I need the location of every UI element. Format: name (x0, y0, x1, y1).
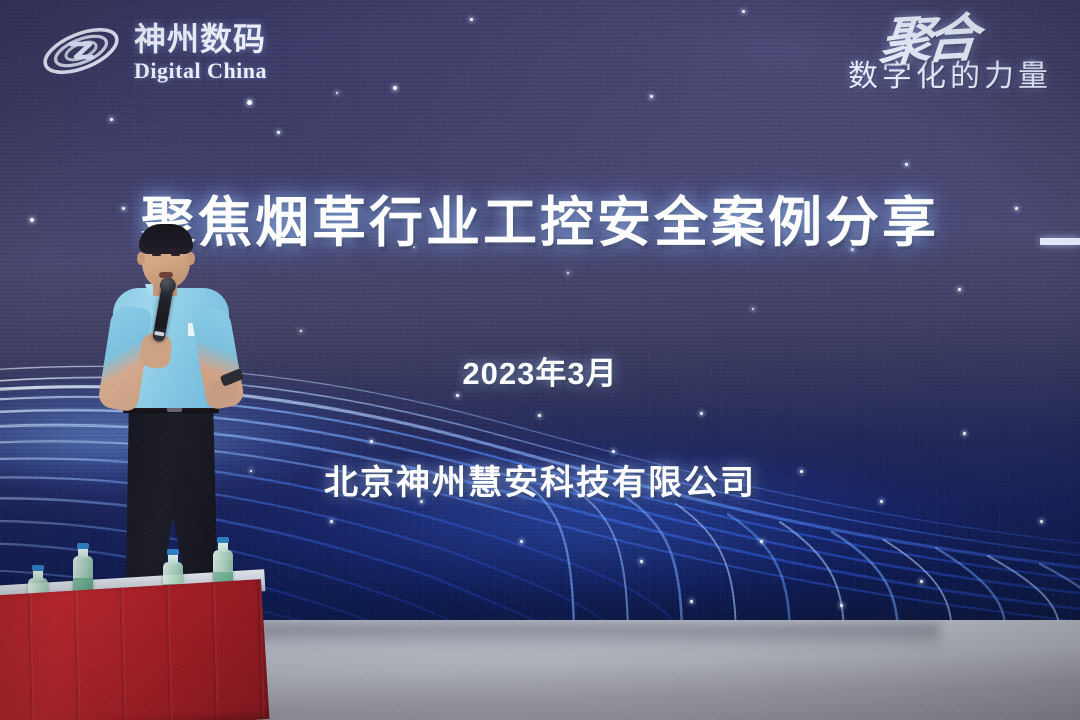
particle-dot (247, 100, 252, 105)
particle-dot (905, 163, 908, 166)
particle-dot (650, 95, 653, 98)
conference-stage-photo: 神州数码 Digital China 聚合 数字化的力量 聚焦烟草行业工控安全案… (0, 0, 1080, 720)
particle-dot (567, 272, 569, 274)
particle-dot (393, 86, 397, 90)
red-table-skirt (0, 579, 269, 720)
presenter-ear-left (137, 252, 145, 265)
logo-text-cn: 神州数码 (134, 23, 267, 55)
particle-dot (470, 18, 473, 21)
presenter-hair (139, 224, 193, 254)
stage-edge-shadow (180, 624, 940, 650)
juhe-calligraphy-logo: 聚合 数字化的力量 (848, 16, 1052, 92)
particle-dot (110, 118, 113, 121)
particle-dot (336, 92, 338, 94)
calligraphy-text: 聚合 (877, 14, 974, 71)
presenter-eye-right (171, 253, 180, 256)
presenter-eye-left (152, 253, 161, 256)
digital-china-logo: 神州数码 Digital China (38, 18, 267, 84)
logo-text-en: Digital China (134, 60, 267, 82)
particle-dot (752, 308, 754, 310)
particle-dot (277, 131, 280, 134)
particle-dot (742, 10, 745, 13)
table-skirt-folds (0, 579, 269, 720)
particle-dot (958, 288, 961, 291)
spiral-galaxy-icon (38, 18, 124, 84)
digital-china-wordmark: 神州数码 Digital China (134, 21, 267, 82)
presenter-ear-right (187, 252, 195, 265)
